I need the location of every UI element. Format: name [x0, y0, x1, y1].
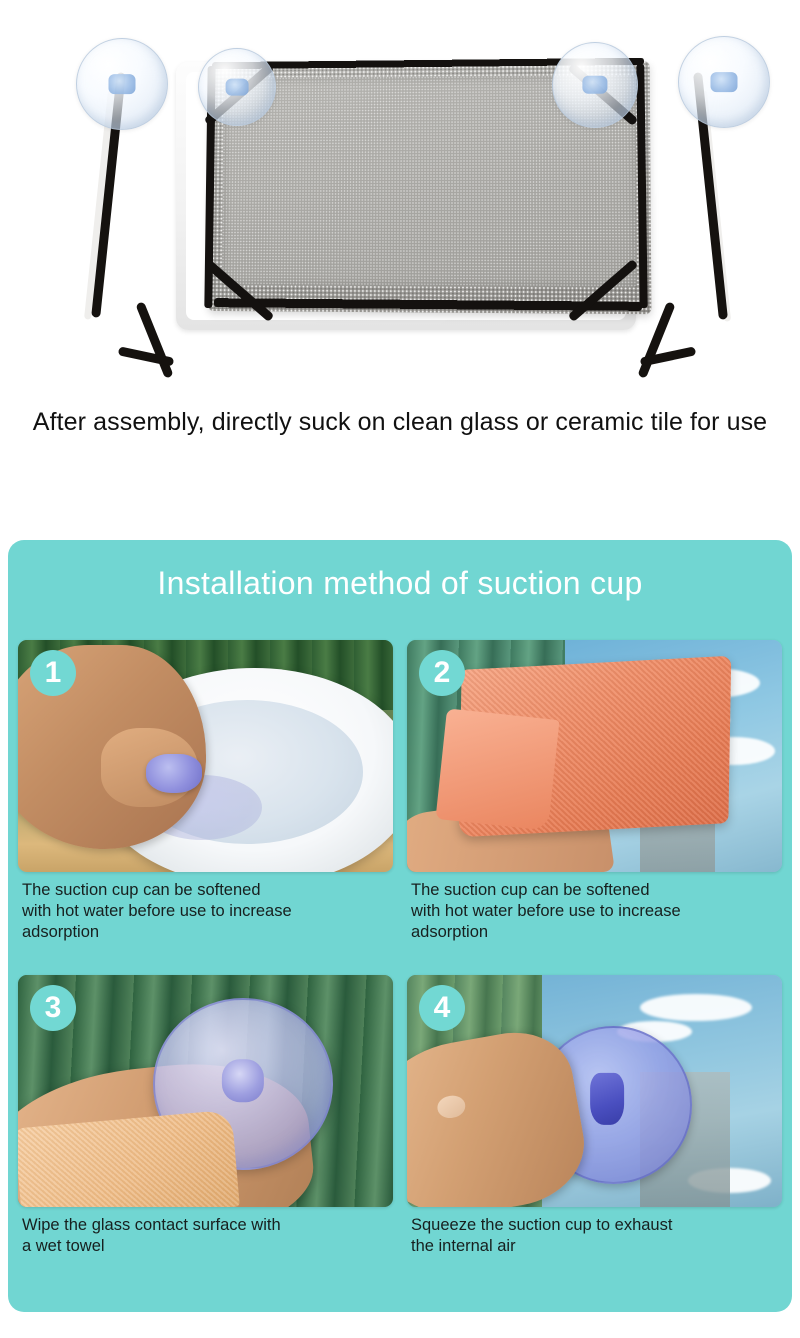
- steps-grid: 1 The suction cup can be softened with h…: [18, 640, 782, 1302]
- step-cell-3: 3 Wipe the glass contact surface with a …: [18, 975, 393, 1302]
- step-caption-3: Wipe the glass contact surface with a we…: [18, 1215, 393, 1257]
- hero-product-photo: [0, 0, 800, 390]
- installation-card: Installation method of suction cup 1 The…: [8, 540, 792, 1312]
- product-illustration: [0, 0, 800, 390]
- suction-cup-nub: [109, 74, 136, 94]
- hero-caption: After assembly, directly suck on clean g…: [0, 404, 800, 440]
- hanging-strap-left-loop: [118, 346, 175, 366]
- product-infographic-page: After assembly, directly suck on clean g…: [0, 0, 800, 1338]
- step-badge-3: 3: [30, 985, 76, 1031]
- step-badge-2: 2: [419, 650, 465, 696]
- suction-cup: [146, 754, 202, 793]
- suction-cup-far-left: [76, 38, 168, 130]
- step-caption-1: The suction cup can be softened with hot…: [18, 880, 393, 943]
- card-title: Installation method of suction cup: [8, 562, 792, 604]
- suction-cup-nub: [582, 76, 607, 94]
- step-caption-2: The suction cup can be softened with hot…: [407, 880, 782, 943]
- suction-cup-far-right: [678, 36, 770, 128]
- step-cell-1: 1 The suction cup can be softened with h…: [18, 640, 393, 967]
- suction-cup-inner-left: [198, 48, 276, 126]
- step-photo-4: 4: [407, 975, 782, 1207]
- cloth-fold: [435, 709, 559, 832]
- step-caption-4: Squeeze the suction cup to exhaust the i…: [407, 1215, 782, 1257]
- step-badge-4: 4: [419, 985, 465, 1031]
- step-badge-1: 1: [30, 650, 76, 696]
- thumbnail: [435, 1093, 466, 1120]
- suction-cup-nub: [226, 79, 249, 96]
- suction-cup-nub: [590, 1073, 624, 1125]
- step-photo-1: 1: [18, 640, 393, 872]
- suction-cup-inner-right: [552, 42, 638, 128]
- step-cell-4: 4 Squeeze the suction cup to exhaust the…: [407, 975, 782, 1302]
- step-photo-3: 3: [18, 975, 393, 1207]
- suction-cup-nub: [711, 72, 738, 92]
- suction-cup-nub: [222, 1059, 264, 1103]
- hanging-strap-left-lower: [135, 301, 173, 379]
- step-photo-2: 2: [407, 640, 782, 872]
- step-cell-2: 2 The suction cup can be softened with h…: [407, 640, 782, 967]
- cloud: [640, 994, 753, 1022]
